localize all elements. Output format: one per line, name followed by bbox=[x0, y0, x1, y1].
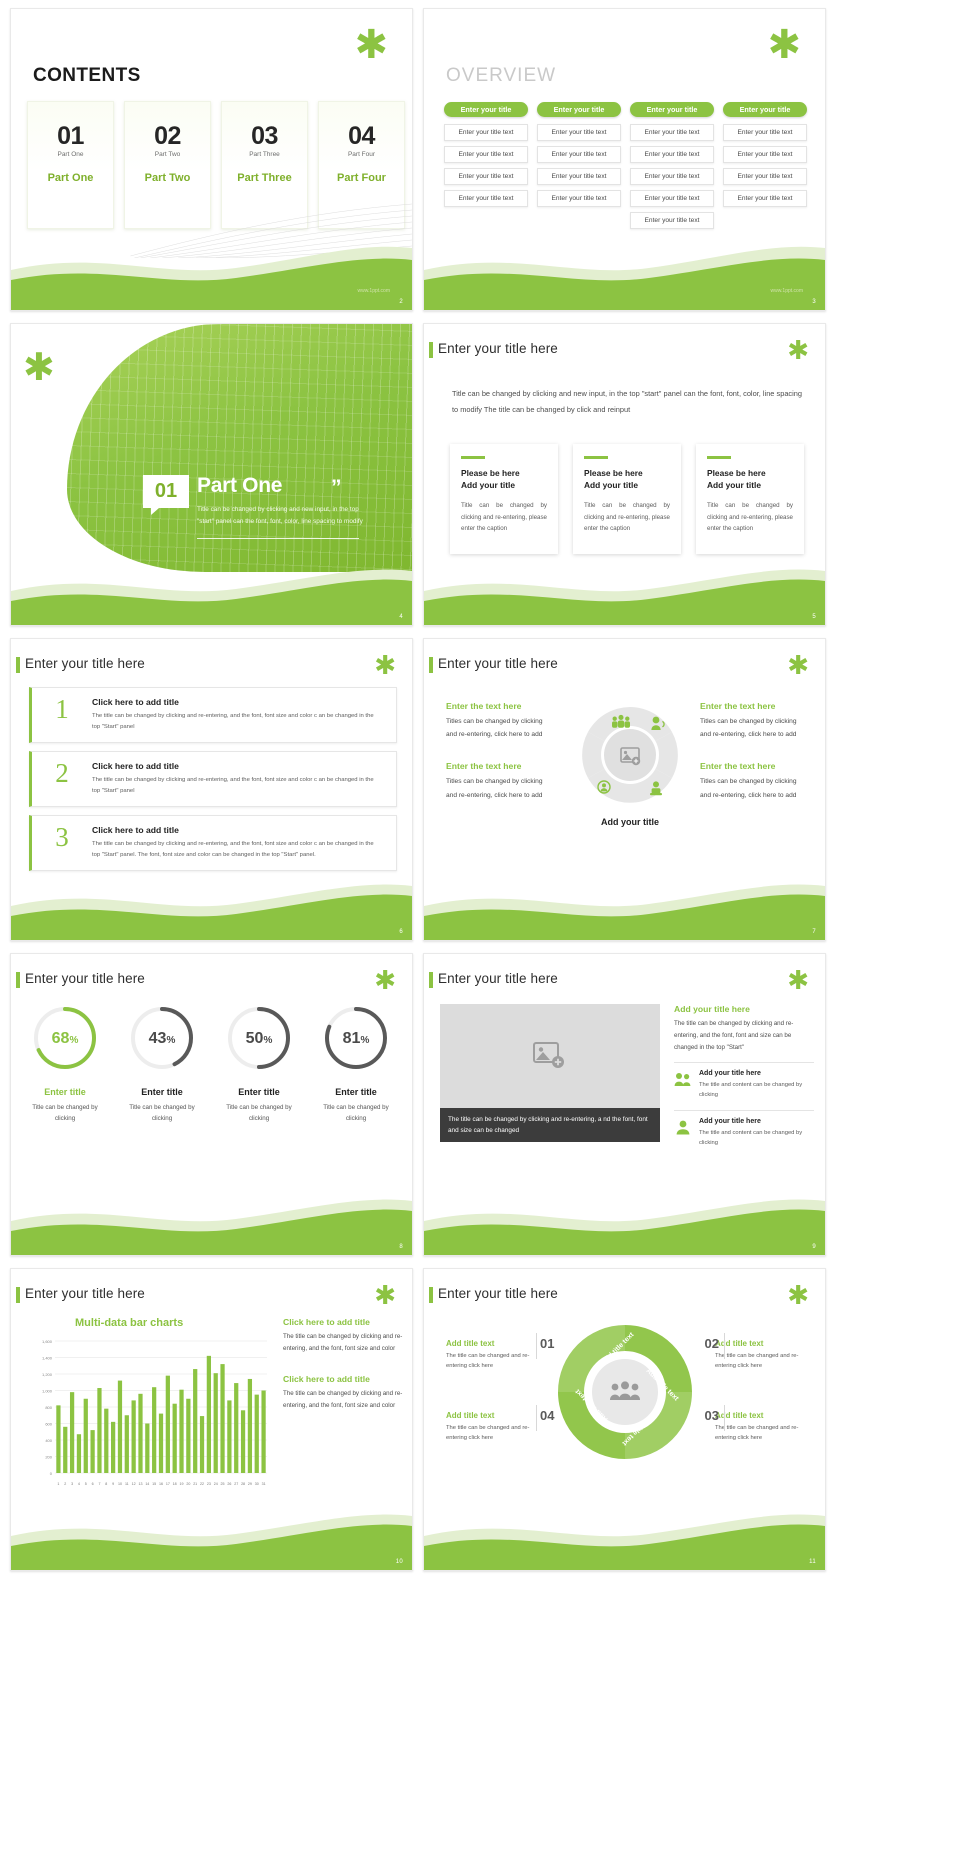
column-pill[interactable]: Enter your title bbox=[537, 102, 621, 117]
section-number-badge: 01 bbox=[143, 475, 189, 508]
bar bbox=[207, 1356, 211, 1473]
card-subtitle: Part Two bbox=[125, 151, 210, 158]
block-title: Enter the text here bbox=[700, 761, 807, 771]
asterisk-icon: ✱ bbox=[787, 1283, 809, 1309]
row-title: Click here to add title bbox=[92, 761, 378, 771]
svg-text:19: 19 bbox=[180, 1482, 184, 1486]
quote-glyph-icon: ” bbox=[331, 476, 342, 500]
svg-text:23: 23 bbox=[207, 1482, 211, 1486]
svg-text:0: 0 bbox=[50, 1471, 53, 1476]
ring-label: Enter title bbox=[320, 1087, 392, 1097]
slide-thumbnail-grid: ✱ CONTENTS 01 Part One Part One 02 Part … bbox=[0, 0, 960, 1579]
wheel-text-block[interactable]: Enter the text here Titles can be change… bbox=[700, 701, 807, 741]
section-title: Part One bbox=[197, 474, 282, 498]
column-pill[interactable]: Enter your title bbox=[723, 102, 807, 117]
chart-title: Multi-data bar charts bbox=[75, 1317, 183, 1329]
cycle-step-04-label[interactable]: Add title text The title can be changed … bbox=[446, 1339, 538, 1372]
step-body: The title can be changed and re-entering… bbox=[446, 1351, 538, 1372]
bar bbox=[152, 1387, 156, 1473]
slide-number: 4 bbox=[399, 614, 403, 620]
column-pill[interactable]: Enter your title bbox=[444, 102, 528, 117]
cycle-step-04b-label[interactable]: Add title text The title can be changed … bbox=[446, 1411, 538, 1444]
wheel-center-label: Add your title bbox=[576, 817, 684, 827]
overview-columns: Enter your title Enter your title text E… bbox=[444, 102, 807, 234]
slide-number: 2 bbox=[399, 299, 403, 305]
bar bbox=[200, 1416, 204, 1473]
percent-ring-item[interactable]: 50% Enter title Title can be changed by … bbox=[223, 1002, 295, 1125]
bar bbox=[132, 1400, 136, 1473]
overview-cell[interactable]: Enter your title text bbox=[630, 146, 714, 163]
svg-text:13: 13 bbox=[138, 1482, 142, 1486]
overview-cell[interactable]: Enter your title text bbox=[630, 212, 714, 229]
ring-label: Enter title bbox=[223, 1087, 295, 1097]
item-body: The title and content can be changed by … bbox=[699, 1080, 814, 1100]
wheel-left-column: Enter the text here Titles can be change… bbox=[446, 701, 553, 822]
page-title: Enter your title here bbox=[438, 656, 558, 671]
svg-text:20: 20 bbox=[186, 1482, 190, 1486]
card-title: Please be hereAdd your title bbox=[584, 467, 670, 491]
overview-cell[interactable]: Enter your title text bbox=[630, 124, 714, 141]
wave-decoration bbox=[11, 1181, 412, 1255]
slide-number: 11 bbox=[809, 1559, 816, 1565]
bar bbox=[227, 1400, 231, 1473]
side-block-title: Click here to add title bbox=[283, 1317, 403, 1327]
svg-text:24: 24 bbox=[214, 1482, 218, 1486]
donut-chart-43: 43% bbox=[126, 1002, 198, 1074]
overview-cell[interactable]: Enter your title text bbox=[444, 168, 528, 185]
step-title: Add title text bbox=[715, 1411, 807, 1420]
svg-text:12: 12 bbox=[132, 1482, 136, 1486]
section-description: Title can be changed by clicking and new… bbox=[197, 504, 367, 528]
icon-wheel-diagram[interactable] bbox=[576, 701, 684, 809]
wheel-center bbox=[604, 729, 656, 781]
bar bbox=[261, 1391, 265, 1474]
svg-text:1,400: 1,400 bbox=[42, 1356, 53, 1361]
bar bbox=[186, 1399, 190, 1473]
svg-text:9: 9 bbox=[112, 1482, 114, 1486]
overview-column: Enter your title Enter your title text E… bbox=[537, 102, 621, 234]
side-block-body: The title can be changed by clicking and… bbox=[283, 1388, 403, 1413]
asterisk-icon: ✱ bbox=[374, 968, 396, 994]
block-body: Titles can be changed by clicking and re… bbox=[446, 715, 553, 741]
ring-label: Enter title bbox=[29, 1087, 101, 1097]
svg-text:1,200: 1,200 bbox=[42, 1372, 53, 1377]
overview-cell[interactable]: Enter your title text bbox=[537, 168, 621, 185]
slide-percent-rings[interactable]: Enter your title here ✱ 68% Enter title … bbox=[10, 953, 413, 1256]
overview-cell[interactable]: Enter your title text bbox=[444, 190, 528, 207]
slide-number: 7 bbox=[812, 929, 816, 935]
watermark: www.1ppt.com bbox=[770, 288, 803, 294]
svg-text:27: 27 bbox=[234, 1482, 238, 1486]
percent-ring-item[interactable]: 43% Enter title Title can be changed by … bbox=[126, 1002, 198, 1125]
overview-cell[interactable]: Enter your title text bbox=[537, 124, 621, 141]
row-body: The title can be changed by clicking and… bbox=[92, 775, 378, 797]
asterisk-icon: ✱ bbox=[23, 348, 55, 386]
slide-numbered-list[interactable]: Enter your title here ✱ 1 Click here to … bbox=[10, 638, 413, 941]
svg-text:800: 800 bbox=[45, 1405, 52, 1410]
overview-cell[interactable]: Enter your title text bbox=[537, 190, 621, 207]
card-number: 03 bbox=[222, 124, 307, 149]
bar-chart: 02004006008001,0001,2001,4001,6001234567… bbox=[29, 1337, 271, 1489]
wave-decoration bbox=[11, 1496, 412, 1570]
svg-text:1,000: 1,000 bbox=[42, 1389, 53, 1394]
svg-text:7: 7 bbox=[98, 1482, 100, 1486]
divider bbox=[197, 538, 359, 539]
asterisk-icon: ✱ bbox=[787, 653, 809, 679]
info-card[interactable]: Please be hereAdd your title Title can b… bbox=[450, 444, 558, 554]
svg-text:1: 1 bbox=[57, 1482, 59, 1486]
page-title: Enter your title here bbox=[25, 971, 145, 986]
decorative-lines bbox=[11, 198, 412, 258]
slide-contents[interactable]: ✱ CONTENTS 01 Part One Part One 02 Part … bbox=[10, 8, 413, 311]
item-title: Add your title here bbox=[699, 1118, 814, 1125]
svg-text:30: 30 bbox=[255, 1482, 259, 1486]
svg-text:10: 10 bbox=[118, 1482, 122, 1486]
percent-ring-item[interactable]: 68% Enter title Title can be changed by … bbox=[29, 1002, 101, 1125]
svg-text:18: 18 bbox=[173, 1482, 177, 1486]
item-body: The title and content can be changed by … bbox=[699, 1128, 814, 1148]
step-body: The title can be changed and re-entering… bbox=[715, 1423, 807, 1444]
item-title: Add your title here bbox=[699, 1070, 814, 1077]
divider bbox=[724, 1333, 725, 1359]
bar bbox=[84, 1399, 88, 1473]
section-body: The title can be changed by clicking and… bbox=[674, 1018, 814, 1053]
svg-text:3: 3 bbox=[71, 1482, 73, 1486]
donut-chart-68: 68% bbox=[29, 1002, 101, 1074]
svg-text:28: 28 bbox=[241, 1482, 245, 1486]
bar bbox=[125, 1415, 129, 1473]
card-label: Part Two bbox=[125, 172, 210, 184]
bar bbox=[97, 1388, 101, 1473]
step-title: Add title text bbox=[446, 1339, 538, 1348]
card-subtitle: Part One bbox=[28, 151, 113, 158]
svg-text:81%: 81% bbox=[343, 1030, 370, 1047]
bar bbox=[56, 1405, 60, 1473]
slide-picture-list[interactable]: Enter your title here ✱ The title can be… bbox=[423, 953, 826, 1256]
wheel-text-block[interactable]: Enter the text here Titles can be change… bbox=[446, 761, 553, 801]
list-item[interactable]: Add your title here The title and conten… bbox=[674, 1110, 814, 1148]
bar bbox=[166, 1376, 170, 1473]
bar bbox=[104, 1409, 108, 1473]
block-title: Enter the text here bbox=[446, 761, 553, 771]
overview-column: Enter your title Enter your title text E… bbox=[630, 102, 714, 234]
wave-decoration bbox=[424, 1181, 825, 1255]
numbered-row[interactable]: 1 Click here to add title The title can … bbox=[29, 687, 397, 743]
row-title: Click here to add title bbox=[92, 825, 378, 835]
ring-caption: Title can be changed by clicking bbox=[126, 1103, 198, 1125]
ring-caption: Title can be changed by clicking bbox=[320, 1103, 392, 1125]
page-title: Enter your title here bbox=[438, 1286, 558, 1301]
cycle-step-number-01: 01 bbox=[540, 1335, 554, 1353]
bar bbox=[234, 1383, 238, 1473]
svg-text:22: 22 bbox=[200, 1482, 204, 1486]
svg-text:11: 11 bbox=[125, 1482, 129, 1486]
slide-icon-wheel[interactable]: Enter your title here ✱ Enter the text h… bbox=[423, 638, 826, 941]
overview-column: Enter your title Enter your title text E… bbox=[723, 102, 807, 234]
ring-caption: Title can be changed by clicking bbox=[223, 1103, 295, 1125]
numbered-row[interactable]: 2 Click here to add title The title can … bbox=[29, 751, 397, 807]
bar bbox=[90, 1430, 94, 1473]
bar bbox=[63, 1427, 67, 1473]
wave-decoration bbox=[424, 551, 825, 625]
card-number: 04 bbox=[319, 124, 404, 149]
list-item[interactable]: Add your title here The title and conten… bbox=[674, 1062, 814, 1100]
page-title: Enter your title here bbox=[25, 1286, 145, 1301]
svg-text:15: 15 bbox=[152, 1482, 156, 1486]
divider bbox=[536, 1405, 537, 1431]
overview-cell[interactable]: Enter your title text bbox=[444, 124, 528, 141]
cycle-step-03-label[interactable]: Add title text The title can be changed … bbox=[715, 1411, 807, 1444]
bar bbox=[255, 1395, 259, 1473]
card-body: Title can be changed by clicking and re-… bbox=[707, 500, 793, 534]
bar bbox=[214, 1373, 218, 1473]
cycle-diagram[interactable]: Add title text Add title text Add title … bbox=[554, 1321, 696, 1463]
numbered-row-list: 1 Click here to add title The title can … bbox=[29, 687, 397, 879]
wheel-right-column: Enter the text here Titles can be change… bbox=[700, 701, 807, 822]
bar bbox=[111, 1422, 115, 1473]
slide-number: 5 bbox=[812, 614, 816, 620]
people-icon bbox=[674, 1071, 692, 1089]
slide-number: 9 bbox=[812, 1244, 816, 1250]
overview-cell[interactable]: Enter your title text bbox=[537, 146, 621, 163]
card-body: Title can be changed by clicking and re-… bbox=[461, 500, 547, 534]
wheel-text-block[interactable]: Enter the text here Titles can be change… bbox=[446, 701, 553, 741]
step-body: The title can be changed and re-entering… bbox=[715, 1351, 807, 1372]
slide-three-cards[interactable]: Enter your title here ✱ Title can be cha… bbox=[423, 323, 826, 626]
card-label: Part One bbox=[28, 172, 113, 184]
step-body: The title can be changed and re-entering… bbox=[446, 1423, 538, 1444]
row-number: 3 bbox=[32, 825, 92, 851]
side-block-title: Click here to add title bbox=[283, 1374, 403, 1384]
asterisk-icon: ✱ bbox=[767, 25, 801, 65]
column-pill[interactable]: Enter your title bbox=[630, 102, 714, 117]
percent-ring-item[interactable]: 81% Enter title Title can be changed by … bbox=[320, 1002, 392, 1125]
bar bbox=[220, 1364, 224, 1473]
slide-bar-chart[interactable]: Enter your title here ✱ Multi-data bar c… bbox=[10, 1268, 413, 1571]
page-title: Enter your title here bbox=[25, 656, 145, 671]
row-number: 2 bbox=[32, 761, 92, 787]
svg-text:1,600: 1,600 bbox=[42, 1339, 53, 1344]
card-number: 01 bbox=[28, 124, 113, 149]
svg-text:16: 16 bbox=[159, 1482, 163, 1486]
cover-photo bbox=[67, 324, 413, 572]
donut-chart-81: 81% bbox=[320, 1002, 392, 1074]
image-placeholder[interactable] bbox=[440, 1004, 660, 1108]
svg-text:5: 5 bbox=[85, 1482, 87, 1486]
overview-cell[interactable]: Enter your title text bbox=[723, 124, 807, 141]
slide-number: 6 bbox=[399, 929, 403, 935]
divider bbox=[536, 1333, 537, 1359]
bar bbox=[138, 1394, 142, 1473]
card-label: Part Four bbox=[319, 172, 404, 184]
section-heading: Add your title here bbox=[674, 1004, 814, 1014]
block-body: Titles can be changed by clicking and re… bbox=[700, 775, 807, 801]
block-body: Titles can be changed by clicking and re… bbox=[700, 715, 807, 741]
right-content: Add your title here The title can be cha… bbox=[674, 1004, 814, 1148]
page-title: Enter your title here bbox=[438, 971, 558, 986]
side-block-body: The title can be changed by clicking and… bbox=[283, 1331, 403, 1356]
slide-cycle-diagram[interactable]: Enter your title here ✱ Add title text A… bbox=[423, 1268, 826, 1571]
overview-cell[interactable]: Enter your title text bbox=[723, 146, 807, 163]
row-title: Click here to add title bbox=[92, 697, 378, 707]
svg-text:8: 8 bbox=[105, 1482, 107, 1486]
svg-text:26: 26 bbox=[227, 1482, 231, 1486]
bar bbox=[248, 1379, 252, 1473]
accent-bar bbox=[461, 456, 485, 459]
svg-text:21: 21 bbox=[193, 1482, 197, 1486]
bar bbox=[77, 1434, 81, 1473]
slide-number: 8 bbox=[399, 1244, 403, 1250]
image-caption-bar: The title can be changed by clicking and… bbox=[440, 1108, 660, 1142]
slide-section-cover[interactable]: ✱ 01 Part One ” Title can be changed by … bbox=[10, 323, 413, 626]
row-body: The title can be changed by clicking and… bbox=[92, 839, 378, 861]
cycle-step-number-03: 03 bbox=[705, 1407, 719, 1425]
block-title: Enter the text here bbox=[700, 701, 807, 711]
svg-text:600: 600 bbox=[45, 1422, 52, 1427]
svg-text:400: 400 bbox=[45, 1438, 52, 1443]
svg-text:4: 4 bbox=[78, 1482, 80, 1486]
accent-bar bbox=[584, 456, 608, 459]
page-title: Enter your title here bbox=[438, 341, 558, 356]
card-subtitle: Part Three bbox=[222, 151, 307, 158]
overview-cell[interactable]: Enter your title text bbox=[630, 190, 714, 207]
svg-text:6: 6 bbox=[92, 1482, 94, 1486]
wheel-text-block[interactable]: Enter the text here Titles can be change… bbox=[700, 761, 807, 801]
svg-text:25: 25 bbox=[221, 1482, 225, 1486]
overview-cell[interactable]: Enter your title text bbox=[723, 168, 807, 185]
cycle-step-number-04: 04 bbox=[540, 1407, 554, 1425]
svg-text:31: 31 bbox=[262, 1482, 266, 1486]
cycle-step-02-label[interactable]: Add title text The title can be changed … bbox=[715, 1339, 807, 1372]
numbered-row[interactable]: 3 Click here to add title The title can … bbox=[29, 815, 397, 871]
chart-side-text: Click here to add title The title can be… bbox=[283, 1317, 403, 1431]
person-icon bbox=[674, 1119, 692, 1137]
slide-number: 10 bbox=[396, 1559, 403, 1565]
block-title: Enter the text here bbox=[446, 701, 553, 711]
image-placeholder-icon bbox=[533, 1042, 567, 1070]
info-card[interactable]: Please be hereAdd your title Title can b… bbox=[696, 444, 804, 554]
asterisk-icon: ✱ bbox=[374, 653, 396, 679]
asterisk-icon: ✱ bbox=[787, 338, 809, 364]
svg-text:17: 17 bbox=[166, 1482, 170, 1486]
bar bbox=[145, 1424, 149, 1474]
card-subtitle: Part Four bbox=[319, 151, 404, 158]
card-number: 02 bbox=[125, 124, 210, 149]
card-title: Please be hereAdd your title bbox=[707, 467, 793, 491]
card-body: Title can be changed by clicking and re-… bbox=[584, 500, 670, 534]
bar bbox=[179, 1390, 183, 1473]
svg-text:50%: 50% bbox=[246, 1030, 273, 1047]
asterisk-icon: ✱ bbox=[354, 25, 388, 65]
page-title: OVERVIEW bbox=[446, 65, 556, 87]
svg-text:29: 29 bbox=[248, 1482, 252, 1486]
wave-decoration bbox=[424, 866, 825, 940]
bar bbox=[241, 1410, 245, 1473]
slide-overview[interactable]: ✱ OVERVIEW Enter your title Enter your t… bbox=[423, 8, 826, 311]
card-label: Part Three bbox=[222, 172, 307, 184]
slide-number: 3 bbox=[812, 299, 816, 305]
overview-cell[interactable]: Enter your title text bbox=[723, 190, 807, 207]
ring-caption: Title can be changed by clicking bbox=[29, 1103, 101, 1125]
intro-paragraph: Title can be changed by clicking and new… bbox=[452, 386, 802, 417]
svg-text:14: 14 bbox=[145, 1482, 149, 1486]
info-card[interactable]: Please be hereAdd your title Title can b… bbox=[573, 444, 681, 554]
wave-decoration bbox=[424, 236, 825, 310]
asterisk-icon: ✱ bbox=[374, 1283, 396, 1309]
bar bbox=[118, 1381, 122, 1473]
svg-text:68%: 68% bbox=[52, 1030, 79, 1047]
asterisk-icon: ✱ bbox=[787, 968, 809, 994]
block-body: Titles can be changed by clicking and re… bbox=[446, 775, 553, 801]
watermark: www.1ppt.com bbox=[357, 288, 390, 294]
row-number: 1 bbox=[32, 697, 92, 723]
row-body: The title can be changed by clicking and… bbox=[92, 711, 378, 733]
page-title: CONTENTS bbox=[33, 65, 141, 87]
bar bbox=[70, 1392, 74, 1473]
bar bbox=[159, 1414, 163, 1473]
donut-chart-50: 50% bbox=[223, 1002, 295, 1074]
overview-cell[interactable]: Enter your title text bbox=[444, 146, 528, 163]
overview-cell[interactable]: Enter your title text bbox=[630, 168, 714, 185]
overview-column: Enter your title Enter your title text E… bbox=[444, 102, 528, 234]
svg-text:200: 200 bbox=[45, 1455, 52, 1460]
step-title: Add title text bbox=[715, 1339, 807, 1348]
card-list: Please be hereAdd your title Title can b… bbox=[450, 444, 804, 554]
ring-label: Enter title bbox=[126, 1087, 198, 1097]
bar bbox=[173, 1404, 177, 1473]
accent-bar bbox=[707, 456, 731, 459]
step-title: Add title text bbox=[446, 1411, 538, 1420]
svg-text:2: 2 bbox=[64, 1482, 66, 1486]
cycle-step-number-02: 02 bbox=[705, 1335, 719, 1353]
bar bbox=[193, 1369, 197, 1473]
divider bbox=[724, 1405, 725, 1431]
wave-decoration bbox=[424, 1496, 825, 1570]
svg-text:43%: 43% bbox=[149, 1030, 176, 1047]
card-title: Please be hereAdd your title bbox=[461, 467, 547, 491]
